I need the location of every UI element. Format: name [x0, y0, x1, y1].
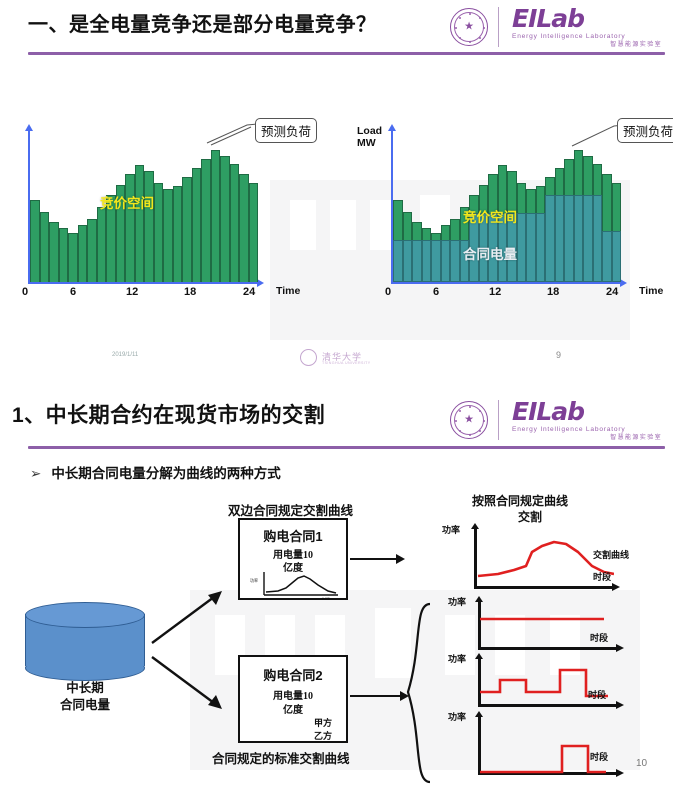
curly-brace-icon [400, 600, 434, 787]
arrow-contract1-to-delivery [350, 558, 398, 560]
caption-standard-curve: 合同规定的标准交割曲线 [212, 748, 350, 767]
bar [30, 200, 40, 283]
x-tick-6: 6 [70, 286, 76, 298]
bar [173, 186, 183, 282]
chart-step-2: 功率 时段 [430, 652, 673, 714]
chart-step-1: 功率 时段 [430, 595, 673, 657]
bar-segment-bidding [574, 150, 584, 195]
cylinder-label: 中长期 合同电量 [25, 680, 145, 714]
x-tick-12: 12 [489, 286, 501, 298]
bullet-arrow-icon: ➢ [30, 466, 41, 481]
x-tick-12: 12 [126, 286, 138, 298]
brand-logo: EILab Energy Intelligence Laboratory 智慧能… [450, 5, 665, 50]
delivery-y-label: 功率 [442, 523, 460, 536]
bar-segment-bidding [450, 219, 460, 240]
x-tick-0: 0 [22, 286, 28, 298]
bar [135, 165, 145, 282]
page-title: 一、是全电量竞争还是部分电量竞争？ [28, 8, 377, 37]
bar-segment-bidding [144, 171, 154, 282]
bar-segment-contract [593, 195, 603, 282]
x-tick-24: 24 [243, 286, 255, 298]
bar-segment-bidding [125, 174, 135, 282]
delivery-x-label: 时段 [593, 570, 611, 583]
x-axis [391, 282, 621, 284]
bar [49, 222, 59, 282]
bar [40, 212, 50, 283]
bar-segment-bidding [220, 156, 230, 282]
bar [59, 228, 69, 282]
bar [412, 222, 422, 282]
bar [564, 159, 574, 282]
svg-text:功率: 功率 [250, 577, 258, 583]
slide-contract-delivery: 1、中长期合约在现货市场的交割 EILab Energy Intelligenc… [0, 390, 673, 787]
page-title: 1、中长期合约在现货市场的交割 [12, 399, 325, 429]
caption-bilateral-curve: 双边合同规定交割曲线 [228, 500, 353, 519]
delivery-curve-label: 交割曲线 [593, 548, 629, 561]
brand-logo: EILab Energy Intelligence Laboratory 智慧能… [450, 398, 665, 443]
bar-segment-bidding [135, 165, 145, 282]
bar-segment-bidding [412, 222, 422, 240]
tsinghua-seal-icon-small [300, 349, 317, 366]
bar-segment-bidding [192, 168, 202, 282]
bar-segment-contract [555, 195, 565, 282]
bar-segment-bidding [593, 164, 603, 196]
footer-university-name-en: TSINGHUA UNIVERSITY [322, 361, 371, 365]
bar [431, 233, 441, 283]
bar-segment-bidding [239, 174, 249, 282]
bar-segment-bidding [78, 225, 88, 282]
bar-segment-bidding [97, 207, 107, 282]
bar [507, 171, 517, 282]
x-axis-label: Time [639, 286, 663, 297]
bar [201, 159, 211, 282]
eilab-tagline-cn: 智慧能源实验室 [512, 434, 662, 442]
bar-segment-bidding [154, 183, 164, 282]
bar-segment-bidding [441, 225, 451, 240]
delivery-title-line2: 交割 [518, 508, 542, 525]
bar-segment-contract [450, 240, 460, 282]
cylinder-contract-volume [25, 602, 145, 668]
header-divider [28, 446, 665, 449]
bullet-line: ➢中长期合同电量分解为曲线的两种方式 [30, 462, 281, 482]
eilab-wordmark: EILab [512, 399, 662, 425]
bar-segment-bidding [517, 183, 527, 213]
eilab-logo: EILab Energy Intelligence Laboratory 智慧能… [512, 6, 662, 50]
x-tick-6: 6 [433, 286, 439, 298]
bar-segment-bidding [431, 233, 441, 241]
bar-segment-bidding [30, 200, 40, 283]
footer-date: 2019/1/11 [112, 352, 138, 358]
bar-segment-contract [526, 213, 536, 282]
bar [450, 219, 460, 282]
bar-segment-bidding [230, 164, 240, 283]
bar [68, 233, 78, 283]
bar [163, 189, 173, 282]
bar-segment-bidding [545, 177, 555, 195]
step3-line [478, 716, 618, 774]
bar-segment-contract [441, 240, 451, 282]
bar-segment-contract [431, 240, 441, 282]
bar-segment-contract [403, 240, 413, 282]
bar-segment-bidding [612, 183, 622, 231]
eilab-tagline: Energy Intelligence Laboratory [512, 425, 662, 434]
bullet-text: 中长期合同电量分解为曲线的两种方式 [51, 466, 281, 481]
footer-university-logo: 清华大学 TSINGHUA UNIVERSITY [300, 348, 380, 370]
bar-segment-contract [612, 231, 622, 282]
bar-segment-contract [583, 195, 593, 282]
cylinder-label-line1: 中长期 [25, 680, 145, 697]
bar-segment-contract [602, 231, 612, 282]
step3-y-label: 功率 [448, 710, 466, 723]
bar-segment-bidding [536, 186, 546, 213]
bar-segment-contract [536, 213, 546, 282]
chart-bidding-space-partial: Load MW 0 6 12 18 24 Time 竞价空间 合同电量 预测负荷 [340, 110, 673, 310]
bar-segment-contract [517, 213, 527, 282]
bar [422, 228, 432, 282]
bar [220, 156, 230, 282]
tsinghua-seal-icon [450, 401, 488, 439]
bar [479, 185, 489, 283]
callout-forecast-load: 预测负荷 [255, 118, 317, 143]
slide2-header: 1、中长期合约在现货市场的交割 EILab Energy Intelligenc… [0, 390, 673, 452]
bar [517, 183, 527, 282]
bar [545, 177, 555, 282]
bar-segment-bidding [49, 222, 59, 282]
eilab-wordmark: EILab [512, 6, 662, 32]
bar [441, 225, 451, 282]
bar-segment-bidding [40, 212, 50, 283]
x-tick-18: 18 [547, 286, 559, 298]
tsinghua-seal-icon [450, 8, 488, 46]
bar-segment-bidding [403, 212, 413, 241]
bar-segment-contract [574, 195, 584, 282]
bar-segment-bidding [163, 189, 173, 282]
bar-segment-bidding [393, 200, 403, 241]
arrow-contract2-to-steps [350, 695, 402, 697]
bar-segment-bidding [201, 159, 211, 282]
bar-segment-contract [545, 195, 555, 282]
bar [154, 183, 164, 282]
eilab-tagline: Energy Intelligence Laboratory [512, 32, 662, 41]
x-axis [28, 282, 258, 284]
bar-segment-bidding [182, 177, 192, 282]
bar [144, 171, 154, 282]
bar [526, 189, 536, 282]
bar-segment-bidding [211, 150, 221, 282]
bar-segment-bidding [583, 156, 593, 195]
callout-forecast-load: 预测负荷 [617, 118, 673, 143]
bar-segment-bidding [249, 183, 259, 282]
bar [593, 164, 603, 283]
bar [125, 174, 135, 282]
delivery-title-line1: 按照合同规定曲线 [472, 492, 568, 509]
step1-y-label: 功率 [448, 595, 466, 608]
chart-step-3: 功率 时段 [430, 710, 673, 782]
eilab-tagline-cn: 智慧能源实验室 [512, 41, 662, 49]
contract-box-1: 购电合同1 用电量10 亿度 功率 时段 [238, 518, 348, 600]
bar [249, 183, 259, 282]
contract2-line1: 用电量10 [240, 687, 346, 702]
bar-segment-contract [564, 195, 574, 282]
bar [536, 186, 546, 282]
logo-divider [498, 400, 499, 440]
bar-segment-contract [422, 240, 432, 282]
chart-delivery-curve: 按照合同规定曲线 交割 功率 交割曲线 时段 [430, 490, 673, 600]
bar [97, 207, 107, 282]
bar-segment-bidding [555, 168, 565, 195]
bar-segment-bidding [602, 174, 612, 231]
header-divider [28, 52, 665, 55]
bar-segment-bidding [173, 186, 183, 282]
contract2-line2: 亿度 [240, 701, 346, 716]
bar [393, 200, 403, 283]
bar [87, 219, 97, 282]
slide-bidding-space: 一、是全电量竞争还是部分电量竞争？ EILab Energy Intellige… [0, 0, 673, 390]
bar-segment-contract [412, 240, 422, 282]
x-tick-24: 24 [606, 286, 618, 298]
bar [230, 164, 240, 283]
cylinder-label-line2: 合同电量 [25, 697, 145, 714]
slide1-header: 一、是全电量竞争还是部分电量竞争？ EILab Energy Intellige… [0, 0, 673, 62]
bar-segment-bidding [59, 228, 69, 282]
x-axis-label: Time [276, 286, 300, 297]
bar-segment-contract [393, 240, 403, 282]
bar-segment-bidding [87, 219, 97, 282]
chart-bidding-space-full: 0 6 12 18 24 Time 竞价空间 预测负荷 [0, 110, 330, 310]
y-axis-label-mw: MW [357, 138, 376, 149]
y-axis-label-load: Load [357, 126, 382, 137]
branch-arrows [150, 585, 235, 715]
bar [574, 150, 584, 282]
logo-divider [498, 7, 499, 47]
bar [602, 174, 612, 282]
eilab-logo: EILab Energy Intelligence Laboratory 智慧能… [512, 399, 662, 443]
contract2-party-a: 甲方 [314, 716, 332, 729]
footer-page-number: 9 [556, 350, 561, 360]
bar [555, 168, 565, 282]
bar [612, 183, 622, 282]
footer-page-number: 10 [636, 758, 647, 769]
contract1-title: 购电合同1 [240, 526, 346, 545]
bar-segment-bidding [68, 233, 78, 283]
bar [78, 225, 88, 282]
step2-y-label: 功率 [448, 652, 466, 665]
bar-segment-bidding [422, 228, 432, 240]
contract2-party-b: 乙方 [314, 729, 332, 742]
x-tick-0: 0 [385, 286, 391, 298]
seal-dots-icon [451, 402, 489, 440]
step3-x-label: 时段 [590, 750, 608, 763]
bar [192, 168, 202, 282]
bar-segment-bidding [564, 159, 574, 195]
band-label-bidding: 竞价空间 [100, 192, 154, 212]
bar [583, 156, 593, 282]
bar [488, 174, 498, 282]
contract1-mini-chart: 功率 时段 [250, 570, 342, 600]
seal-dots-icon [451, 9, 489, 47]
bar [239, 174, 249, 282]
contract2-title: 购电合同2 [240, 665, 346, 684]
svg-text:时段: 时段 [322, 596, 330, 600]
bar-segment-bidding [526, 189, 536, 213]
contract-box-2: 购电合同2 用电量10 亿度 甲方 乙方 [238, 655, 348, 743]
cylinder-top [25, 602, 145, 628]
step1-x-label: 时段 [590, 631, 608, 644]
bar [182, 177, 192, 282]
band-label-bidding: 竞价空间 [463, 206, 517, 226]
step2-x-label: 时段 [588, 688, 606, 701]
band-label-contract: 合同电量 [463, 243, 517, 263]
x-tick-18: 18 [184, 286, 196, 298]
bar [403, 212, 413, 283]
bar [211, 150, 221, 282]
